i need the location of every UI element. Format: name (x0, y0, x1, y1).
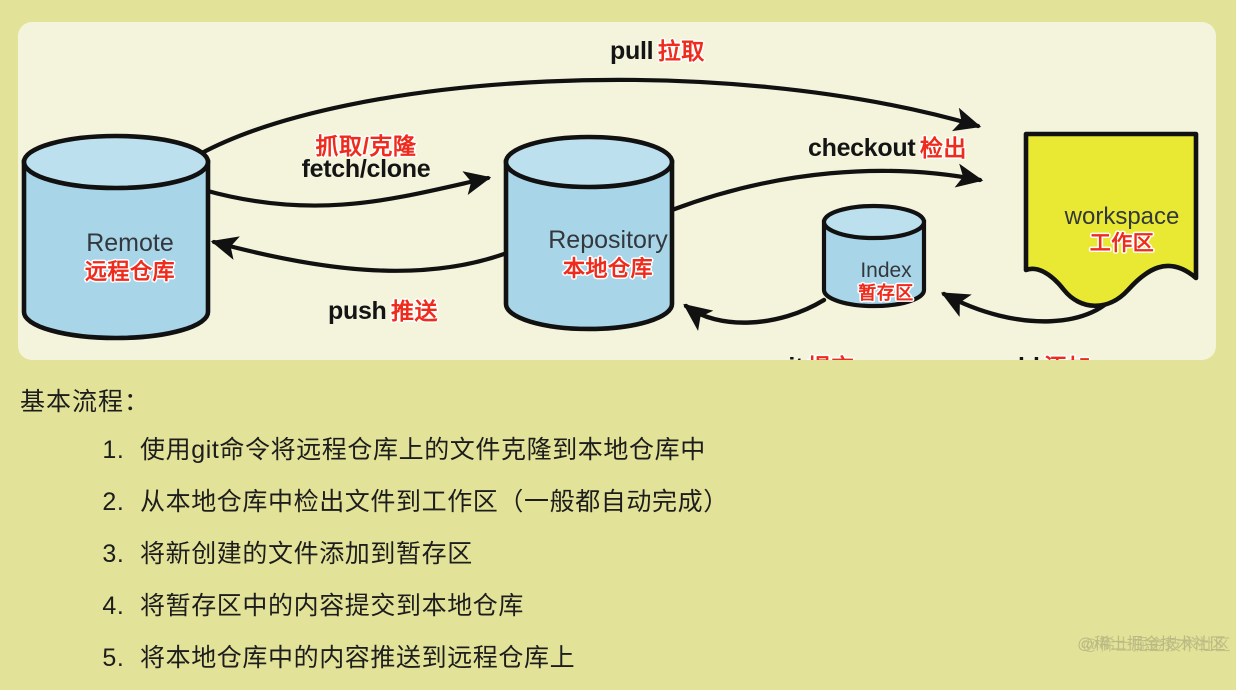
node-workspace (1026, 134, 1196, 306)
list-item: 将暂存区中的内容提交到本地仓库 (132, 586, 729, 622)
list-item: 将新创建的文件添加到暂存区 (132, 534, 729, 570)
list-item: 将本地仓库中的内容推送到远程仓库上 (132, 638, 729, 674)
edge-checkout-arrow (672, 171, 980, 210)
list-item: 从本地仓库中检出文件到工作区（一般都自动完成） (132, 482, 729, 518)
edge-fetch-clone-arrow (204, 178, 488, 206)
node-index (824, 206, 924, 306)
edge-push-arrow (214, 242, 504, 271)
watermark-text-ghost: @稀土掘金技术社区 (1082, 631, 1231, 655)
basic-flow-steps-list: 使用git命令将远程仓库上的文件克隆到本地仓库中 从本地仓库中检出文件到工作区（… (96, 430, 729, 690)
node-repository (506, 137, 672, 329)
watermark: @稀土掘金技术社区 @稀土掘金技术社区 (1077, 630, 1226, 654)
edge-commit-arrow (686, 300, 824, 323)
basic-flow-heading: 基本流程： (20, 382, 150, 418)
node-remote (24, 136, 208, 338)
list-item: 使用git命令将远程仓库上的文件克隆到本地仓库中 (132, 430, 729, 466)
git-workflow-diagram-panel: Remote 远程仓库 Repository 本地仓库 Index 暂存区 wo… (18, 22, 1216, 360)
git-workflow-diagram-canvas (18, 22, 1216, 360)
